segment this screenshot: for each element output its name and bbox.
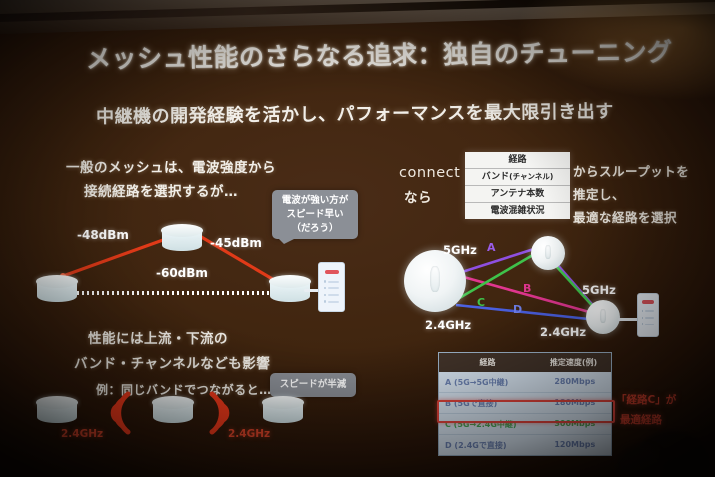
annotation-line2: 最適経路 xyxy=(620,412,662,427)
route-label-d: D xyxy=(513,303,522,316)
cell-route: D (2.4Gで直接) xyxy=(439,435,539,455)
header-route: 経路 xyxy=(439,353,536,372)
slide-photo: メッシュ性能のさらなる追求：独自のチューニング 中継機の開発経験を活かし、パフォ… xyxy=(0,0,715,477)
node-band-5g-label: 5GHz xyxy=(582,283,616,297)
main-router-disc xyxy=(404,250,466,312)
route-label-a: A xyxy=(487,241,496,254)
route-label-c: C xyxy=(477,296,485,309)
highlight-box-route-c xyxy=(437,400,615,423)
header-speed: 推定速度(例) xyxy=(536,353,611,372)
cell-speed: 280Mbps xyxy=(539,372,611,392)
cell-speed: 120Mbps xyxy=(539,435,611,455)
cell-route: A (5G→5G中継) xyxy=(439,372,539,392)
annotation-line1: 「経路C」が xyxy=(616,392,676,407)
table-row: A (5G→5G中継) 280Mbps xyxy=(439,372,611,393)
main-band-24g-label: 2.4GHz xyxy=(425,318,471,332)
satellite-router-bottom xyxy=(586,300,620,334)
main-band-5g-label: 5GHz xyxy=(443,243,477,257)
right-client-device xyxy=(637,293,659,337)
table-row: D (2.4Gで直接) 120Mbps xyxy=(439,435,611,455)
node-band-24g-label: 2.4GHz xyxy=(540,325,586,339)
right-device-badge xyxy=(642,300,653,304)
speed-table-header: 経路 推定速度(例) xyxy=(439,353,611,372)
route-label-b: B xyxy=(523,282,531,295)
satellite-router-top xyxy=(531,236,565,270)
